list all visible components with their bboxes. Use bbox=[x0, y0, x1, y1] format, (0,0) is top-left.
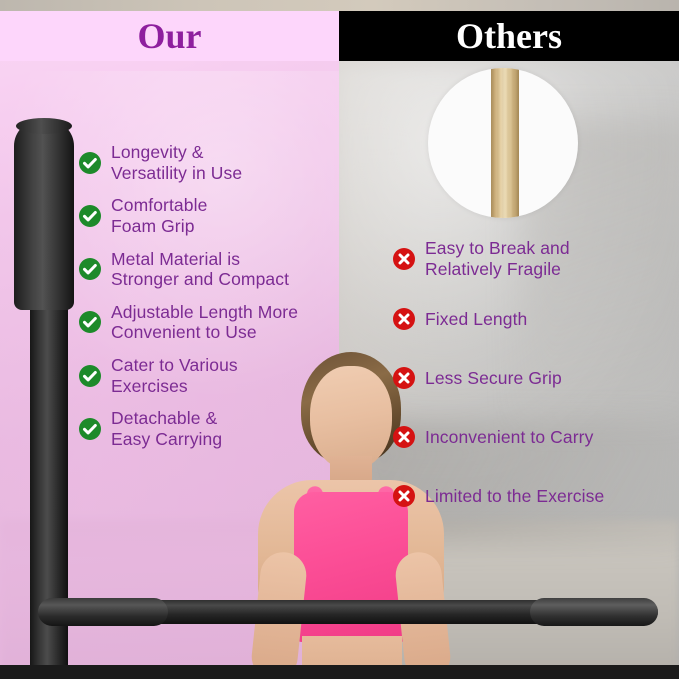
list-item: Fixed Length bbox=[392, 300, 674, 338]
product-bar-end-cap bbox=[16, 118, 72, 134]
list-item-label: Detachable & Easy Carrying bbox=[111, 408, 222, 449]
wood-grain-texture bbox=[491, 68, 519, 218]
list-item: Longevity & Versatility in Use bbox=[78, 142, 340, 183]
list-item: Comfortable Foam Grip bbox=[78, 195, 340, 236]
list-item: Less Secure Grip bbox=[392, 359, 674, 397]
header-title-others: Others bbox=[456, 15, 562, 57]
check-circle-icon bbox=[78, 257, 102, 281]
cross-circle-icon bbox=[392, 484, 416, 508]
list-item: Easy to Break and Relatively Fragile bbox=[392, 238, 674, 279]
list-item: Limited to the Exercise bbox=[392, 477, 674, 515]
list-item-label: Limited to the Exercise bbox=[425, 486, 604, 507]
list-item: Inconvenient to Carry bbox=[392, 418, 674, 456]
list-item-label: Comfortable Foam Grip bbox=[111, 195, 207, 236]
header-title-our: Our bbox=[137, 15, 201, 57]
comparison-infographic: Our Others Longevity & bbox=[0, 0, 679, 679]
list-item-label: Adjustable Length More Convenient to Use bbox=[111, 302, 298, 343]
cross-circle-icon bbox=[392, 307, 416, 331]
list-item-label: Inconvenient to Carry bbox=[425, 427, 593, 448]
list-item: Adjustable Length More Convenient to Use bbox=[78, 302, 340, 343]
cross-circle-icon bbox=[392, 247, 416, 271]
check-circle-icon bbox=[78, 204, 102, 228]
check-circle-icon bbox=[78, 310, 102, 334]
product-bar-foam-grip bbox=[14, 120, 74, 310]
others-drawbacks-list: Easy to Break and Relatively Fragile Fix… bbox=[392, 238, 674, 536]
header-banner-our: Our bbox=[0, 11, 339, 61]
cross-circle-icon bbox=[392, 425, 416, 449]
list-item-label: Metal Material is Stronger and Compact bbox=[111, 249, 289, 290]
list-item: Detachable & Easy Carrying bbox=[78, 408, 340, 449]
list-item-label: Longevity & Versatility in Use bbox=[111, 142, 242, 183]
wooden-dowel bbox=[491, 68, 519, 218]
list-item-label: Fixed Length bbox=[425, 309, 527, 330]
list-item: Metal Material is Stronger and Compact bbox=[78, 249, 340, 290]
product-bar-grip-left bbox=[38, 598, 168, 626]
cross-circle-icon bbox=[392, 366, 416, 390]
check-circle-icon bbox=[78, 151, 102, 175]
wooden-stick-inset bbox=[428, 68, 578, 218]
check-circle-icon bbox=[78, 417, 102, 441]
product-bar-grip-right bbox=[530, 598, 658, 626]
our-benefits-list: Longevity & Versatility in Use Comfortab… bbox=[78, 142, 340, 462]
list-item-label: Less Secure Grip bbox=[425, 368, 562, 389]
list-item: Cater to Various Exercises bbox=[78, 355, 340, 396]
bottom-dark-edge bbox=[0, 665, 679, 679]
list-item-label: Cater to Various Exercises bbox=[111, 355, 238, 396]
header-banner-others: Others bbox=[339, 11, 679, 61]
list-item-label: Easy to Break and Relatively Fragile bbox=[425, 238, 570, 279]
check-circle-icon bbox=[78, 364, 102, 388]
